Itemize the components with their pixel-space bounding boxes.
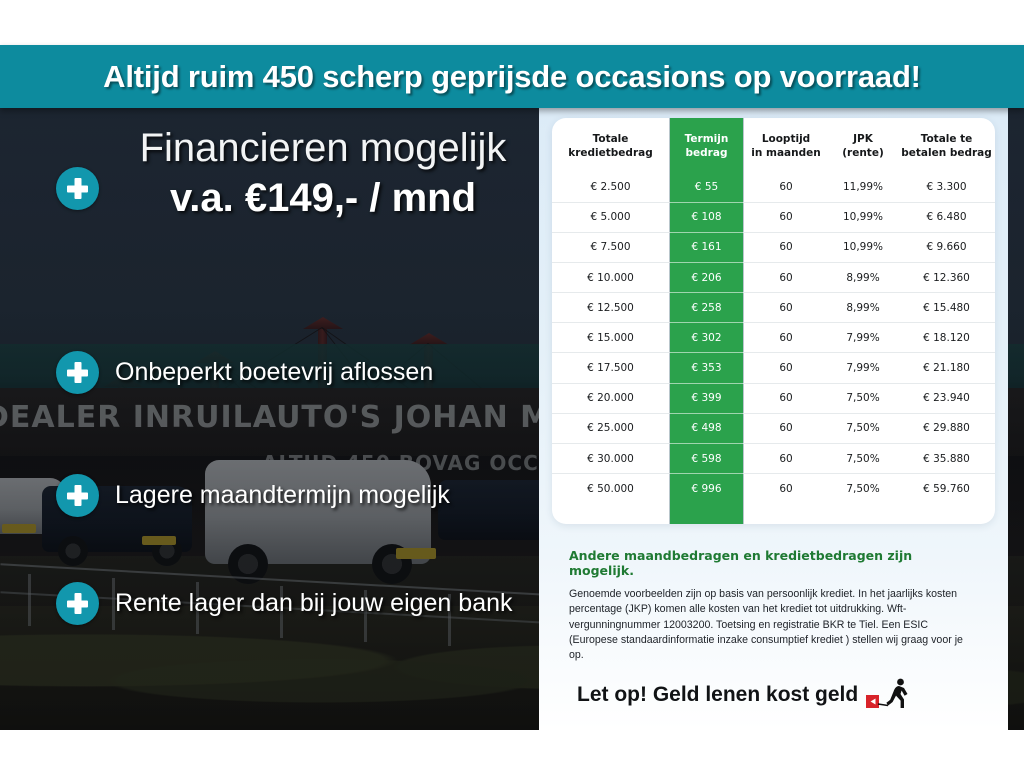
disclaimer-body: Genoemde voorbeelden zijn op basis van p…: [569, 587, 977, 664]
header-line1: Totale: [593, 133, 629, 145]
cell-totaal: € 3.300: [898, 172, 995, 202]
cell-looptijd: 60: [744, 444, 828, 474]
cell-termijnbedrag: € 206: [669, 262, 744, 292]
header-line2: kredietbedrag: [568, 147, 652, 159]
cell-looptijd: 60: [744, 262, 828, 292]
cell-termijnbedrag: € 399: [669, 383, 744, 413]
rate-table-card: Totale kredietbedrag Termijn bedrag Loop…: [552, 118, 995, 524]
header-line2: (rente): [842, 147, 884, 159]
disclaimer-heading: Andere maandbedragen en kredietbedragen …: [569, 548, 977, 578]
cell-looptijd: 60: [744, 383, 828, 413]
promo-banner-text: Altijd ruim 450 scherp geprijsde occasio…: [103, 59, 921, 95]
table-row: € 7.500 € 161 60 10,99% € 9.660: [552, 232, 995, 262]
promo-headline-bullet: [56, 167, 99, 210]
header-line1: JPK: [853, 133, 873, 145]
promo-banner: Altijd ruim 450 scherp geprijsde occasio…: [0, 45, 1024, 108]
cell-termijnbedrag: € 996: [669, 474, 744, 504]
promo-bullet-label: Rente lager dan bij jouw eigen bank: [115, 589, 513, 618]
afm-running-man-icon: [866, 678, 912, 712]
header-line2: betalen bedrag: [901, 147, 992, 159]
cell-totaal: € 9.660: [898, 232, 995, 262]
rate-table-header-totaal: Totale te betalen bedrag: [898, 118, 995, 172]
cell-totaal: € 29.880: [898, 413, 995, 443]
cell-termijnbedrag: € 498: [669, 413, 744, 443]
promo-bullet-2: Lagere maandtermijn mogelijk: [56, 474, 450, 517]
cell-totaal: € 18.120: [898, 323, 995, 353]
cell-totaal: € 59.760: [898, 474, 995, 504]
promo-bullet-label: Onbeperkt boetevrij aflossen: [115, 358, 433, 387]
table-row: € 20.000 € 399 60 7,50% € 23.940: [552, 383, 995, 413]
cell-termijnbedrag: € 161: [669, 232, 744, 262]
header-line1: Termijn: [685, 133, 729, 145]
table-row: € 12.500 € 258 60 8,99% € 15.480: [552, 293, 995, 323]
disclaimer-block: Andere maandbedragen en kredietbedragen …: [569, 548, 977, 664]
header-line1: Totale te: [921, 133, 973, 145]
credit-warning-text: Let op! Geld lenen kost geld: [577, 683, 858, 707]
cell-looptijd: 60: [744, 474, 828, 504]
plus-circle-icon: [56, 474, 99, 517]
cell-termijnbedrag: € 55: [669, 172, 744, 202]
cell-kredietbedrag: € 17.500: [552, 353, 669, 383]
credit-warning: Let op! Geld lenen kost geld: [577, 678, 912, 712]
cell-kredietbedrag: € 50.000: [552, 474, 669, 504]
rate-table-header-jkp: JPK (rente): [828, 118, 898, 172]
cell-totaal: € 6.480: [898, 202, 995, 232]
cell-looptijd: 60: [744, 323, 828, 353]
promo-headline-line1: Financieren mogelijk: [108, 126, 538, 171]
cell-termijnbedrag: € 302: [669, 323, 744, 353]
top-white-strip: [0, 0, 1024, 45]
promo-bullet-1: Onbeperkt boetevrij aflossen: [56, 351, 433, 394]
cell-kredietbedrag: € 20.000: [552, 383, 669, 413]
promo-copy: Financieren mogelijk v.a. €149,- / mnd O…: [0, 108, 548, 730]
finance-info-panel: Totale kredietbedrag Termijn bedrag Loop…: [539, 108, 1008, 730]
screenshot-root: Altijd ruim 450 scherp geprijsde occasio…: [0, 0, 1024, 768]
cell-kredietbedrag: € 5.000: [552, 202, 669, 232]
table-row: € 5.000 € 108 60 10,99% € 6.480: [552, 202, 995, 232]
table-row: € 25.000 € 498 60 7,50% € 29.880: [552, 413, 995, 443]
cell-termijnbedrag: € 108: [669, 202, 744, 232]
plus-circle-icon: [56, 582, 99, 625]
cell-jkp: 10,99%: [828, 202, 898, 232]
table-row: € 15.000 € 302 60 7,99% € 18.120: [552, 323, 995, 353]
cell-looptijd: 60: [744, 413, 828, 443]
plus-circle-icon: [56, 167, 99, 210]
cell-looptijd: 60: [744, 172, 828, 202]
cell-looptijd: 60: [744, 293, 828, 323]
cell-totaal: € 23.940: [898, 383, 995, 413]
cell-kredietbedrag: € 2.500: [552, 172, 669, 202]
cell-jkp: 10,99%: [828, 232, 898, 262]
cell-jkp: 8,99%: [828, 293, 898, 323]
cell-kredietbedrag: € 30.000: [552, 444, 669, 474]
cell-kredietbedrag: € 12.500: [552, 293, 669, 323]
advertisement-image: Altijd ruim 450 scherp geprijsde occasio…: [0, 0, 1024, 730]
cell-totaal: € 21.180: [898, 353, 995, 383]
cell-jkp: 7,50%: [828, 413, 898, 443]
cell-termijnbedrag: € 598: [669, 444, 744, 474]
table-row: € 17.500 € 353 60 7,99% € 21.180: [552, 353, 995, 383]
cell-looptijd: 60: [744, 232, 828, 262]
cell-jkp: 7,99%: [828, 323, 898, 353]
cell-looptijd: 60: [744, 353, 828, 383]
rate-table-header-row: Totale kredietbedrag Termijn bedrag Loop…: [552, 118, 995, 172]
table-row: € 30.000 € 598 60 7,50% € 35.880: [552, 444, 995, 474]
cell-totaal: € 35.880: [898, 444, 995, 474]
promo-bullet-3: Rente lager dan bij jouw eigen bank: [56, 582, 513, 625]
cell-kredietbedrag: € 25.000: [552, 413, 669, 443]
cell-jkp: 7,50%: [828, 383, 898, 413]
cell-jkp: 8,99%: [828, 262, 898, 292]
cell-kredietbedrag: € 10.000: [552, 262, 669, 292]
header-line2: in maanden: [751, 147, 820, 159]
table-row: € 2.500 € 55 60 11,99% € 3.300: [552, 172, 995, 202]
cell-jkp: 7,50%: [828, 474, 898, 504]
cell-totaal: € 12.360: [898, 262, 995, 292]
promo-headline-line2: v.a. €149,- / mnd: [108, 171, 538, 225]
cell-totaal: € 15.480: [898, 293, 995, 323]
cell-kredietbedrag: € 15.000: [552, 323, 669, 353]
table-row: € 50.000 € 996 60 7,50% € 59.760: [552, 474, 995, 504]
header-line1: Looptijd: [762, 133, 810, 145]
bottom-white-strip: [0, 730, 1024, 768]
header-line2: bedrag: [686, 147, 728, 159]
promo-headline: Financieren mogelijk v.a. €149,- / mnd: [108, 126, 538, 225]
rate-table-body: € 2.500 € 55 60 11,99% € 3.300 € 5.000 €…: [552, 172, 995, 503]
cell-termijnbedrag: € 353: [669, 353, 744, 383]
plus-circle-icon: [56, 351, 99, 394]
rate-table-header-looptijd: Looptijd in maanden: [744, 118, 828, 172]
rate-table-header-kredietbedrag: Totale kredietbedrag: [552, 118, 669, 172]
cell-looptijd: 60: [744, 202, 828, 232]
rate-table-header-termijnbedrag: Termijn bedrag: [669, 118, 744, 172]
cell-jkp: 7,99%: [828, 353, 898, 383]
table-row: € 10.000 € 206 60 8,99% € 12.360: [552, 262, 995, 292]
cell-jkp: 7,50%: [828, 444, 898, 474]
cell-kredietbedrag: € 7.500: [552, 232, 669, 262]
promo-bullet-label: Lagere maandtermijn mogelijk: [115, 481, 450, 510]
cell-termijnbedrag: € 258: [669, 293, 744, 323]
rate-table: Totale kredietbedrag Termijn bedrag Loop…: [552, 118, 995, 503]
cell-jkp: 11,99%: [828, 172, 898, 202]
